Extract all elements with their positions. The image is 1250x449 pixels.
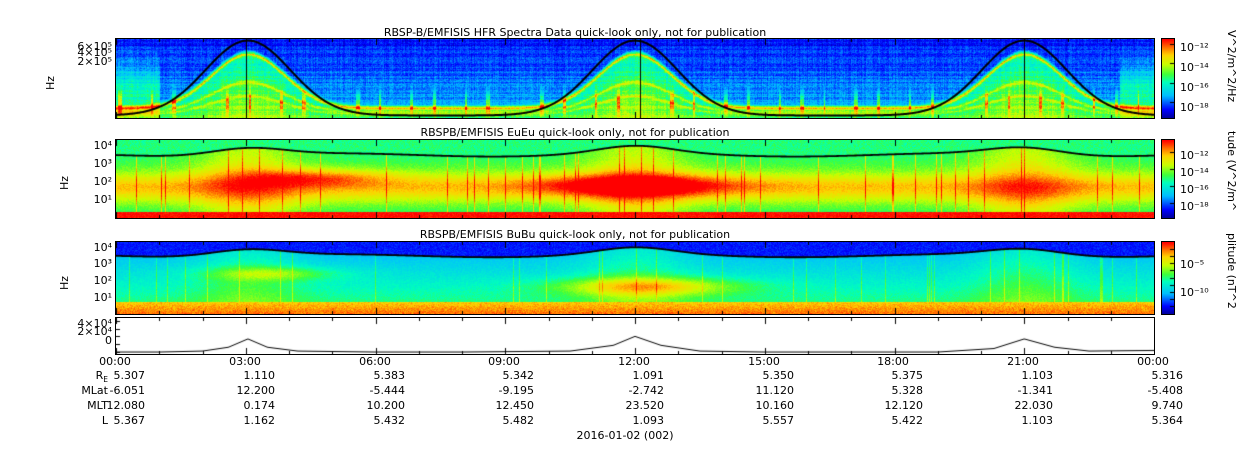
spectrogram-eueu <box>116 140 1154 218</box>
spectrogram-figure: RBSP-B/EMFISIS HFR Spectra Data quick-lo… <box>0 0 1250 449</box>
ytick-hfr-2: 2×10⁵ <box>58 55 112 68</box>
xtick-1: 03:00 <box>215 355 275 368</box>
ephemeris-cell: -9.195 <box>474 384 534 397</box>
xtick-0: 00:00 <box>85 355 145 368</box>
cbtick-hfr-1: 10⁻¹⁴ <box>1180 61 1209 74</box>
ephemeris-cell: 1.162 <box>215 414 275 427</box>
ytick-bubu-3: 10¹ <box>72 291 112 304</box>
colorbar-bubu <box>1161 241 1175 315</box>
xtick-5: 15:00 <box>734 355 794 368</box>
ephemeris-cell: 23.520 <box>604 399 664 412</box>
ephemeris-cell: -1.341 <box>993 384 1053 397</box>
yaxis-label-bubu: Hz <box>58 290 72 303</box>
xtick-8: 00:00 <box>1123 355 1183 368</box>
ephemeris-cell: 5.328 <box>863 384 923 397</box>
spectrogram-hfr <box>116 39 1154 118</box>
xtick-7: 21:00 <box>993 355 1053 368</box>
panel-title-bubu: RBSPB/EMFISIS BuBu quick-look only, not … <box>0 228 1150 241</box>
ytick-bubu-1: 10³ <box>72 257 112 270</box>
ytick-eueu-3: 10¹ <box>72 193 112 206</box>
colorbar-hfr-label-text: V^2/m^2/Hz <box>1225 30 1238 102</box>
colorbar-hfr <box>1161 38 1175 119</box>
xtick-2: 06:00 <box>345 355 405 368</box>
xtick-4: 12:00 <box>604 355 664 368</box>
colorbar-bubu-label: plitude (nT^2 <box>1238 233 1250 246</box>
cbtick-hfr-0: 10⁻¹² <box>1180 41 1209 54</box>
ephemeris-cell: 1.103 <box>993 369 1053 382</box>
panel-density <box>115 317 1155 355</box>
ephemeris-cell: 10.200 <box>345 399 405 412</box>
ephemeris-cell: 12.120 <box>863 399 923 412</box>
ephemeris-cell: 5.375 <box>863 369 923 382</box>
ephemeris-cell: 1.091 <box>604 369 664 382</box>
ytick-eueu-1: 10³ <box>72 157 112 170</box>
xtick-6: 18:00 <box>863 355 923 368</box>
panel-hfr <box>115 38 1155 119</box>
colorbar-bubu-label-text: plitude (nT^2 <box>1225 233 1238 309</box>
ephemeris-cell: 1.103 <box>993 414 1053 427</box>
colorbar-eueu <box>1161 139 1175 219</box>
ephemeris-cell: 12.450 <box>474 399 534 412</box>
spectrogram-bubu <box>116 242 1154 314</box>
cbtick-eueu-3: 10⁻¹⁸ <box>1180 200 1209 213</box>
cbtick-eueu-2: 10⁻¹⁶ <box>1180 183 1209 196</box>
ephemeris-cell: 10.160 <box>734 399 794 412</box>
xaxis-ticklabels: 00:00 03:00 06:00 09:00 12:00 15:00 18:0… <box>0 355 1250 369</box>
date-label: 2016-01-02 (002) <box>0 429 1250 442</box>
ytick-eueu-2: 10² <box>72 175 112 188</box>
ephemeris-cell: -5.408 <box>1123 384 1183 397</box>
panel-title-eueu: RBSPB/EMFISIS EuEu quick-look only, not … <box>0 126 1150 139</box>
ephemeris-cell: 5.557 <box>734 414 794 427</box>
ephemeris-cell: 5.364 <box>1123 414 1183 427</box>
ephemeris-cell: 0.174 <box>215 399 275 412</box>
cbtick-hfr-2: 10⁻¹⁶ <box>1180 81 1209 94</box>
ephemeris-cell: 5.367 <box>85 414 145 427</box>
yaxis-label-eueu: Hz <box>58 190 72 203</box>
ephemeris-cell: 5.307 <box>85 369 145 382</box>
ephemeris-cell: 11.120 <box>734 384 794 397</box>
xtick-3: 09:00 <box>474 355 534 368</box>
cbtick-eueu-1: 10⁻¹⁴ <box>1180 166 1209 179</box>
ephemeris-cell: 5.422 <box>863 414 923 427</box>
panel-bubu <box>115 241 1155 315</box>
ephemeris-cell: 12.080 <box>85 399 145 412</box>
ytick-bubu-2: 10² <box>72 274 112 287</box>
yaxis-label-hfr: Hz <box>44 90 58 103</box>
ephemeris-cell: 12.200 <box>215 384 275 397</box>
ephemeris-cell: 9.740 <box>1123 399 1183 412</box>
ephemeris-cell: -2.742 <box>604 384 664 397</box>
ephemeris-cell: -5.444 <box>345 384 405 397</box>
ephemeris-cell: 5.350 <box>734 369 794 382</box>
cbtick-bubu-1: 10⁻¹⁰ <box>1180 286 1209 299</box>
ephemeris-cell: 22.030 <box>993 399 1053 412</box>
cbtick-bubu-0: 10⁻⁵ <box>1180 258 1204 271</box>
cbtick-eueu-0: 10⁻¹² <box>1180 149 1209 162</box>
ephemeris-cell: 1.093 <box>604 414 664 427</box>
ephemeris-table: RE MLat MLT L 5.307 1.110 5.383 5.342 1.… <box>0 369 1250 429</box>
colorbar-hfr-label: V^2/m^2/Hz <box>1238 30 1250 43</box>
ephemeris-cell: 5.383 <box>345 369 405 382</box>
colorbar-eueu-label-text: tude (V^2/m^ <box>1225 131 1238 211</box>
ephemeris-cell: 5.316 <box>1123 369 1183 382</box>
ytick-eueu-0: 10⁴ <box>72 139 112 152</box>
yaxis-label-bubu-text: Hz <box>58 276 71 290</box>
colorbar-eueu-label: tude (V^2/m^ <box>1238 131 1250 144</box>
ephemeris-cell: 5.342 <box>474 369 534 382</box>
ytick-density-2: 0 <box>52 334 112 347</box>
panel-eueu <box>115 139 1155 219</box>
ephemeris-cell: 1.110 <box>215 369 275 382</box>
yaxis-label-eueu-text: Hz <box>58 176 71 190</box>
ephemeris-cell: 5.482 <box>474 414 534 427</box>
cbtick-hfr-3: 10⁻¹⁸ <box>1180 101 1209 114</box>
ephemeris-cell: 5.432 <box>345 414 405 427</box>
ephemeris-cell: -6.051 <box>85 384 145 397</box>
ytick-bubu-0: 10⁴ <box>72 241 112 254</box>
yaxis-label-hfr-text: Hz <box>44 76 57 90</box>
